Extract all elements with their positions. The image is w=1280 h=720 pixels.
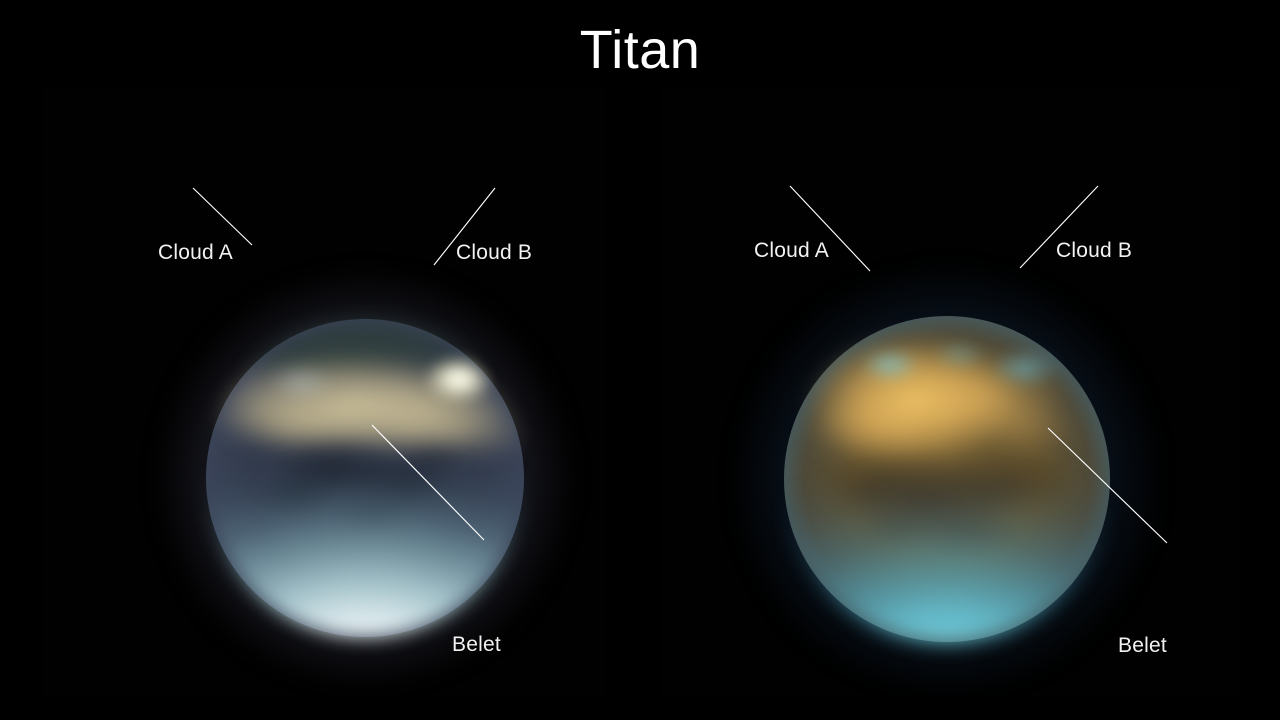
annotation-label-cloud-b-keck: Cloud B (1056, 239, 1132, 263)
titan-disk-keck (784, 316, 1110, 642)
annotation-label-belet-keck: Belet (1118, 634, 1167, 658)
annotation-label-cloud-a-webb: Cloud A (158, 241, 233, 265)
titan-disk-webb (206, 319, 524, 637)
disk-vignette-keck (784, 316, 1110, 642)
image-canvas: Titan Cloud A Cloud B Belet 4 (0, 0, 1280, 720)
panel-keck: Cloud A Cloud B Belet 6 Nov 2022 Keck NI… (660, 88, 1240, 696)
panel-webb: Cloud A Cloud B Belet 4 Nov 2022 Webb NI… (42, 88, 605, 696)
annotation-label-belet-webb: Belet (452, 633, 501, 657)
annotation-label-cloud-b-webb: Cloud B (456, 241, 532, 265)
annotation-label-cloud-a-keck: Cloud A (754, 239, 829, 263)
disk-vignette-webb (206, 319, 524, 637)
page-title: Titan (0, 18, 1280, 82)
